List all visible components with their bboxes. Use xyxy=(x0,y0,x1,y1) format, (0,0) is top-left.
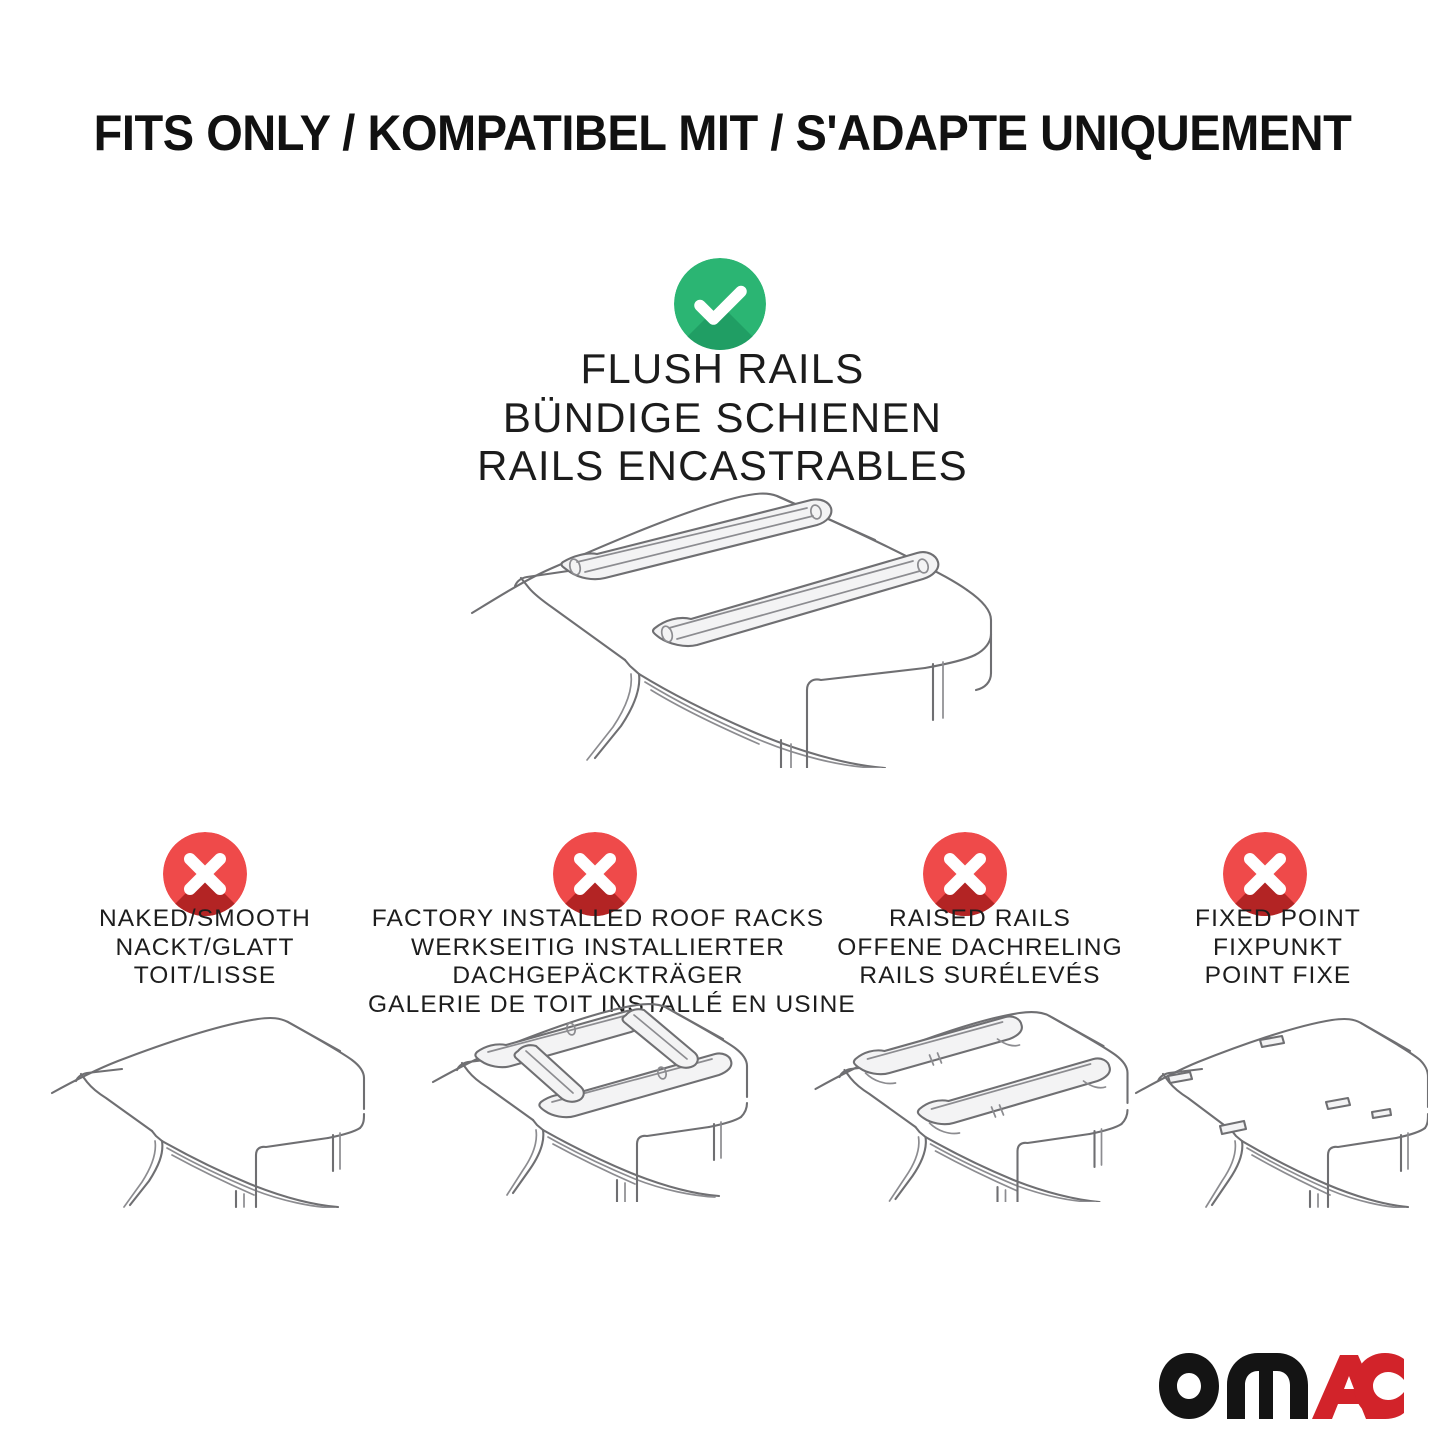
check-circle-icon xyxy=(674,258,766,350)
caption-line-1: FIXED POINT xyxy=(1138,905,1418,934)
caption-line-3: RAILS SURÉLEVÉS xyxy=(830,962,1130,991)
caption-line-2: FIXPUNKT xyxy=(1138,934,1418,963)
caption-line-3: POINT FIXE xyxy=(1138,962,1418,991)
omac-logo xyxy=(1155,1347,1405,1425)
compatibility-infographic: FITS ONLY / KOMPATIBEL MIT / S'ADAPTE UN… xyxy=(0,0,1445,1445)
x-circle-icon xyxy=(1223,832,1307,916)
car-roof-bare-smooth-illustration xyxy=(40,1013,370,1208)
caption-line-2: WERKSEITIG INSTALLIERTER xyxy=(368,934,828,963)
x-circle-icon xyxy=(553,832,637,916)
x-circle-icon xyxy=(163,832,247,916)
compatible-line-2: BÜNDIGE SCHIENEN xyxy=(0,394,1445,443)
incompatible-column-factory-roof-racks: FACTORY INSTALLED ROOF RACKS WERKSEITIG … xyxy=(368,905,828,1020)
incompatible-column-naked-smooth: NAKED/SMOOTH NACKT/GLATT TOIT/LISSE xyxy=(45,905,365,991)
caption-line-3: TOIT/LISSE xyxy=(45,962,365,991)
x-circle-icon xyxy=(923,832,1007,916)
incompatible-caption: FIXED POINT FIXPUNKT POINT FIXE xyxy=(1138,905,1418,991)
incompatible-caption: NAKED/SMOOTH NACKT/GLATT TOIT/LISSE xyxy=(45,905,365,991)
car-roof-with-fixed-points-illustration xyxy=(1128,1013,1428,1208)
car-roof-with-flush-rails-illustration xyxy=(455,468,1030,768)
compatible-line-1: FLUSH RAILS xyxy=(0,345,1445,394)
caption-line-1: RAISED RAILS xyxy=(830,905,1130,934)
caption-line-2: NACKT/GLATT xyxy=(45,934,365,963)
incompatible-caption: RAISED RAILS OFFENE DACHRELING RAILS SUR… xyxy=(830,905,1130,991)
incompatible-column-raised-rails: RAISED RAILS OFFENE DACHRELING RAILS SUR… xyxy=(830,905,1130,991)
page-title: FITS ONLY / KOMPATIBEL MIT / S'ADAPTE UN… xyxy=(43,104,1401,162)
caption-line-1: NAKED/SMOOTH xyxy=(45,905,365,934)
car-roof-with-factory-crossbars-illustration xyxy=(423,987,773,1202)
incompatible-column-fixed-point: FIXED POINT FIXPUNKT POINT FIXE xyxy=(1138,905,1418,991)
caption-line-1: FACTORY INSTALLED ROOF RACKS xyxy=(368,905,828,934)
caption-line-2: OFFENE DACHRELING xyxy=(830,934,1130,963)
car-roof-with-raised-rails-illustration xyxy=(808,997,1153,1202)
